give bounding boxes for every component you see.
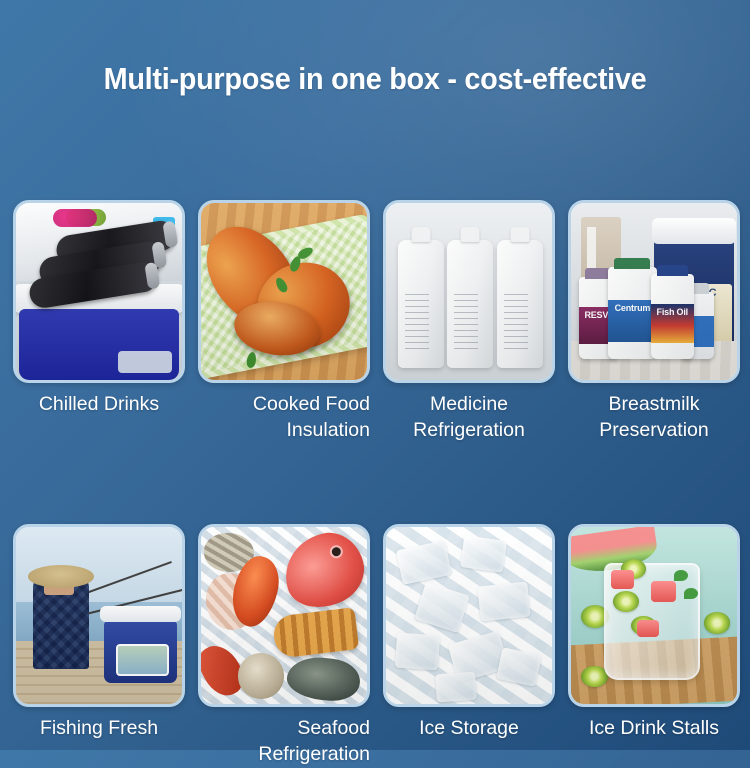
use-case-cell-cooked-food[interactable]: Cooked Food Insulation <box>198 200 370 443</box>
card-label-ice-storage: Ice Storage <box>383 716 555 742</box>
photo-card-breastmilk[interactable]: COC RESVE Centrum Fish Oil <box>568 200 740 383</box>
card-label-chilled-drinks: Chilled Drinks <box>13 392 185 418</box>
card-label-line-2: Refrigeration <box>413 419 525 441</box>
use-case-cell-chilled-drinks[interactable]: Chilled Drinks <box>13 200 185 443</box>
card-label-line-2: Preservation <box>599 419 708 441</box>
supplement-bottles-with-cooler-photo: COC RESVE Centrum Fish Oil <box>571 203 737 380</box>
card-label-fishing: Fishing Fresh <box>13 716 185 742</box>
use-case-cell-medicine[interactable]: Medicine Refrigeration <box>383 200 555 443</box>
use-case-cell-ice-drink-stalls[interactable]: Ice Drink Stalls <box>568 524 740 767</box>
photo-card-seafood[interactable] <box>198 524 370 707</box>
roast-chicken-photo <box>201 203 367 380</box>
page-title: Multi-purpose in one box - cost-effectiv… <box>26 61 724 97</box>
use-case-grid: Chilled Drinks Cooked Food Ins <box>13 200 737 768</box>
card-label-line-1: Medicine <box>430 393 508 415</box>
card-label-line-1: Breastmilk <box>608 393 699 415</box>
card-label-line-2: Refrigeration <box>258 743 370 765</box>
bottle-label-fish-oil: Fish Oil <box>651 307 694 317</box>
milk-storage-pouches-photo <box>386 203 552 380</box>
man-fishing-with-cooler-photo <box>16 527 182 704</box>
photo-card-chilled-drinks[interactable] <box>13 200 185 383</box>
photo-card-ice-drink-stalls[interactable] <box>568 524 740 707</box>
use-case-cell-seafood[interactable]: Seafood Refrigeration <box>198 524 370 767</box>
iced-watermelon-drink-photo <box>571 527 737 704</box>
use-case-cell-ice-storage[interactable]: Ice Storage <box>383 524 555 767</box>
use-case-row-2: Fishing Fresh Seafood <box>13 524 737 767</box>
card-label-line-1: Seafood <box>297 717 370 739</box>
card-label-medicine: Medicine Refrigeration <box>383 392 555 443</box>
photo-card-medicine[interactable] <box>383 200 555 383</box>
photo-card-fishing[interactable] <box>13 524 185 707</box>
card-label-line-2: Insulation <box>287 419 370 441</box>
card-label-breastmilk: Breastmilk Preservation <box>568 392 740 443</box>
crushed-ice-photo <box>386 527 552 704</box>
use-case-cell-fishing[interactable]: Fishing Fresh <box>13 524 185 767</box>
pepsi-cans-in-cooler-photo <box>16 203 182 380</box>
seafood-on-ice-photo <box>201 527 367 704</box>
use-case-cell-breastmilk[interactable]: COC RESVE Centrum Fish Oil Breastmilk Pr… <box>568 200 740 443</box>
card-label-ice-drink-stalls: Ice Drink Stalls <box>568 716 740 742</box>
photo-card-ice-storage[interactable] <box>383 524 555 707</box>
card-label-cooked-food: Cooked Food Insulation <box>198 392 370 443</box>
card-label-line-1: Cooked Food <box>253 393 370 415</box>
photo-card-cooked-food[interactable] <box>198 200 370 383</box>
use-case-row-1: Chilled Drinks Cooked Food Ins <box>13 200 737 443</box>
card-label-seafood: Seafood Refrigeration <box>198 716 370 767</box>
